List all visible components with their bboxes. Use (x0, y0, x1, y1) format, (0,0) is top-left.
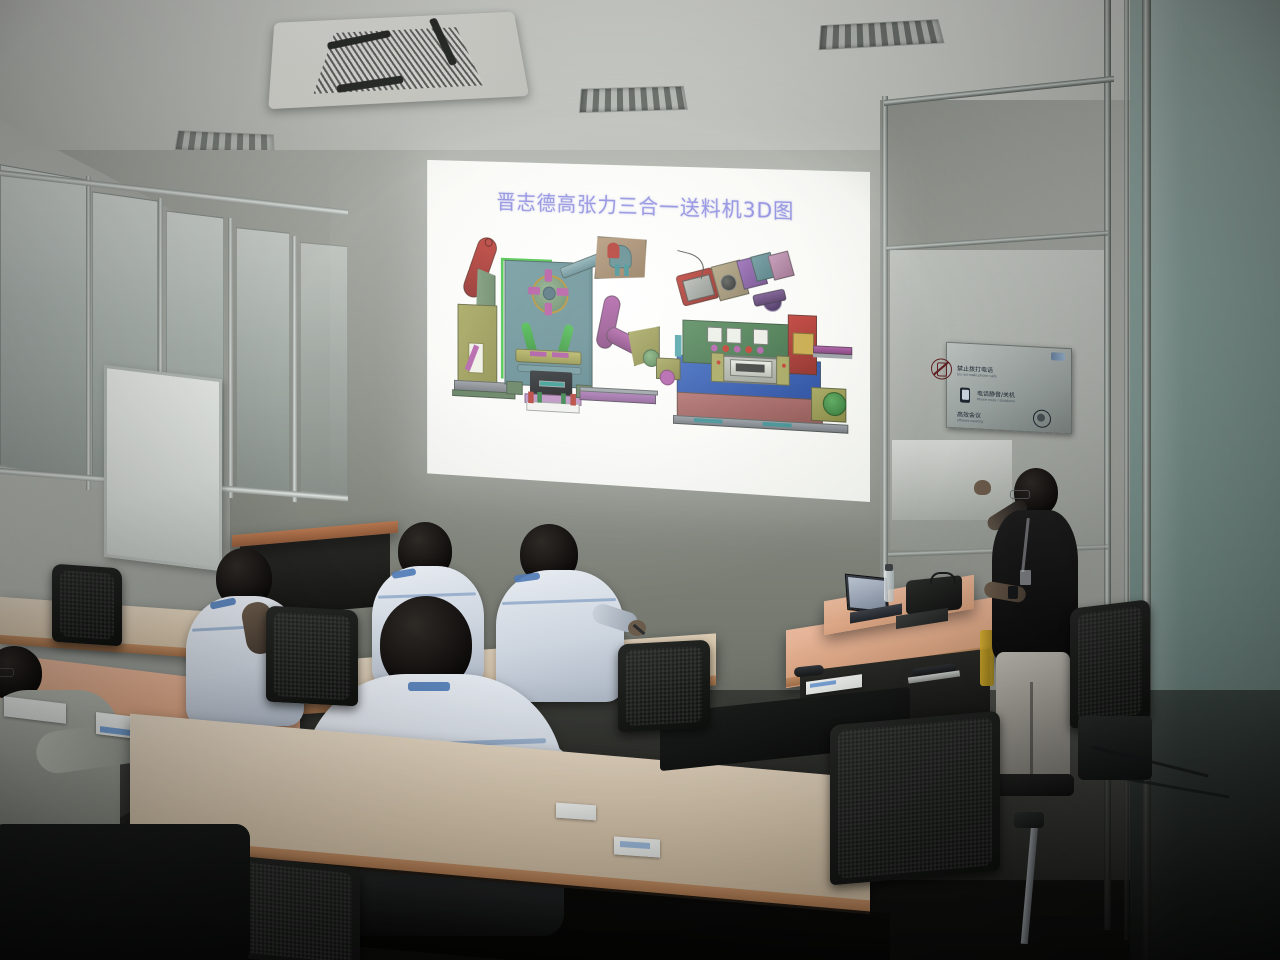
sign-logo-icon (1051, 352, 1065, 361)
cad-panel-plate (707, 327, 722, 343)
presenter-leg-split (1030, 682, 1033, 782)
projection-screen: 晋志德高张力三合一送料机3D图 (427, 160, 870, 502)
presenter-hand (974, 480, 991, 495)
photo-scene: 禁止拨打电话 Do not make phone calls 电话静音/关机 P… (0, 0, 1280, 960)
cad-housing-teal-pin (624, 264, 629, 276)
cad-button (734, 346, 741, 353)
cad-flywheel-spoke (557, 288, 569, 296)
water-bottle (884, 570, 894, 602)
cad-flywheel-spoke (528, 287, 540, 295)
cad-slide-detail (530, 351, 546, 357)
sign-row-en: efficient meeting (957, 418, 983, 423)
chair[interactable] (1070, 599, 1150, 729)
chair-base (1078, 716, 1152, 780)
sign-row-en: Do not make phone calls (957, 372, 997, 378)
window-frame (292, 236, 297, 503)
window-frame (86, 176, 91, 491)
whiteboard (104, 365, 222, 571)
bag-handle (930, 572, 956, 584)
cad-flywheel-spoke (545, 303, 552, 316)
cad-entry-post (675, 335, 682, 357)
chair[interactable] (618, 640, 710, 733)
cad-die-clamp (537, 392, 542, 403)
projected-slide: 晋志德高张力三合一送料机3D图 (427, 160, 870, 502)
attendee-collar (408, 682, 450, 691)
glasses-icon (1010, 490, 1030, 499)
cad-red-arm-pivot (485, 238, 493, 247)
cad-feed-indicator (717, 360, 721, 364)
window-pane (0, 164, 88, 482)
booklet (556, 803, 596, 821)
glasses-icon (0, 668, 14, 677)
badge (1020, 570, 1031, 585)
mobile-phone-icon (960, 387, 970, 403)
cad-feed-indicator (782, 364, 786, 368)
laptop-display-content (848, 577, 886, 611)
cad-slide-detail (552, 352, 569, 358)
meeting-icon (1033, 409, 1051, 428)
bottle-cap (885, 564, 893, 571)
cad-button (757, 347, 764, 354)
cad-motor (823, 392, 847, 417)
cad-feed-roll-core (736, 363, 765, 372)
cad-button (711, 344, 718, 351)
window-pane (236, 227, 290, 493)
cad-die-clamp (528, 391, 533, 403)
cad-housing-red-cap (607, 242, 619, 258)
cad-feed-side-block (711, 352, 724, 382)
tripod-head (1014, 812, 1044, 828)
window-pane (300, 242, 348, 496)
chair[interactable] (266, 606, 358, 707)
cad-green-light-curtain (501, 260, 504, 379)
sign-row-en: Phone mute / shutdown (977, 397, 1015, 403)
ceiling-light-fixture (819, 19, 945, 50)
window-frame (228, 218, 233, 499)
cad-press-leg (506, 381, 522, 395)
presenter-legs (996, 652, 1070, 782)
cad-flywheel-hub (543, 286, 556, 300)
ceiling-light-fixture (579, 86, 688, 113)
foreground-chair (0, 824, 250, 960)
cad-button (722, 345, 729, 352)
chair[interactable] (52, 564, 122, 647)
no-phone-wall-sign: 禁止拨打电话 Do not make phone calls 电话静音/关机 P… (946, 342, 1072, 435)
ceiling-ac-unit-icon (268, 12, 529, 110)
cad-button (745, 346, 752, 353)
cad-output-rail-grey (813, 353, 852, 359)
no-phone-icon (931, 358, 952, 380)
cad-feed-side-block (776, 355, 790, 385)
cad-flywheel-spoke (545, 269, 552, 282)
slide-title: 晋志德高张力三合一送料机3D图 (427, 185, 870, 228)
cad-panel-plate (726, 327, 741, 343)
cad-panel-plate (753, 329, 768, 346)
cad-housing-teal-pin (615, 264, 620, 276)
presenter-shoes (990, 774, 1074, 796)
chair[interactable] (830, 711, 1000, 886)
cad-entry-roller (660, 369, 675, 385)
cad-machine-drawing (447, 229, 850, 473)
presenter-wristwatch (1008, 586, 1018, 599)
cad-die-clamp (561, 393, 566, 404)
cad-feeder-panel-screen (793, 332, 814, 355)
